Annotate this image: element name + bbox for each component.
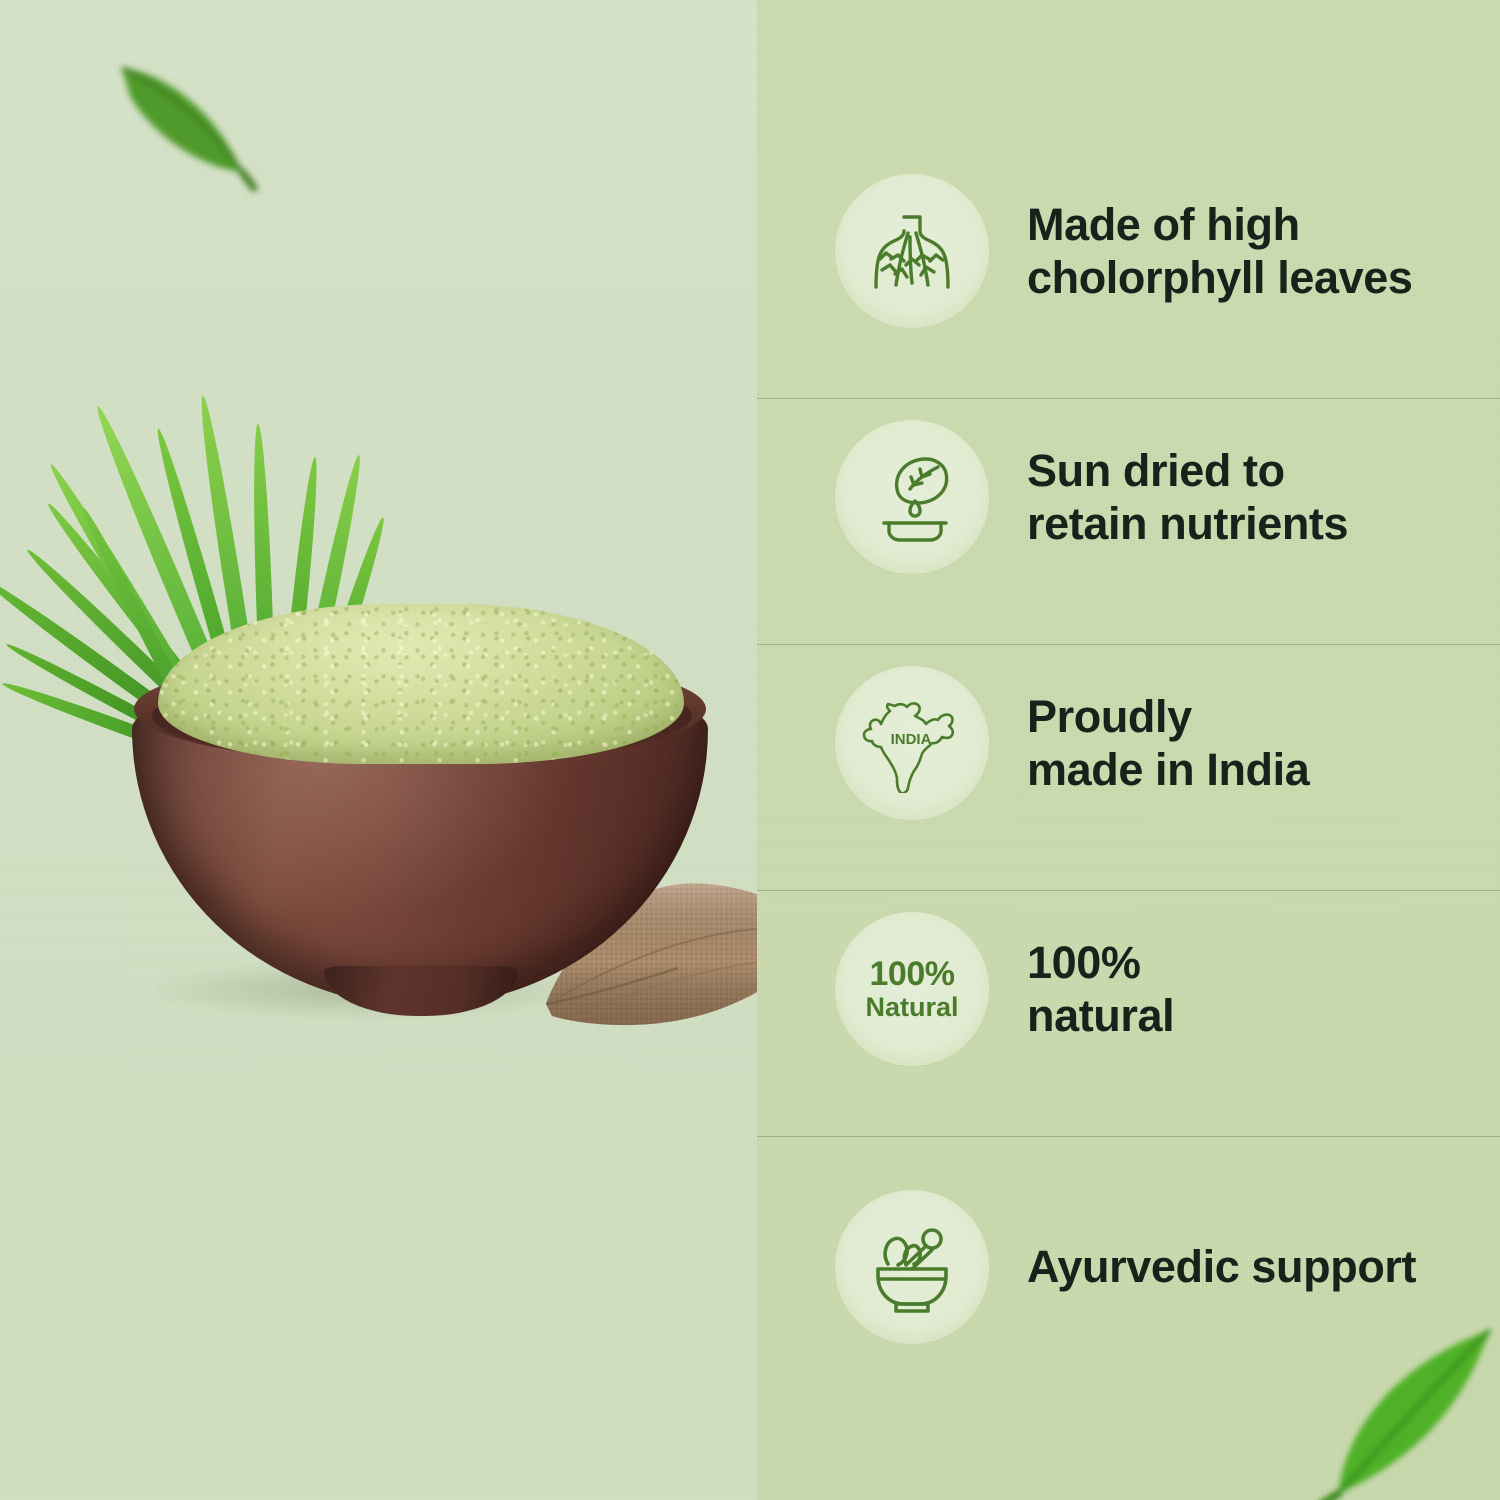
natural-badge-text: 100% Natural xyxy=(865,957,958,1021)
natural-badge-word: Natural xyxy=(865,994,958,1021)
infographic-canvas: Made of high cholorphyll leaves Sun drie… xyxy=(0,0,1500,1500)
feature-list: Made of high cholorphyll leaves Sun drie… xyxy=(757,0,1500,1500)
product-photo xyxy=(0,0,757,1500)
feature-label-made-in-india: Proudly made in India xyxy=(1027,690,1309,796)
feature-row-ayurvedic[interactable]: Ayurvedic support xyxy=(757,1182,1500,1352)
feature-divider-2 xyxy=(757,644,1500,645)
svg-text:INDIA: INDIA xyxy=(891,731,932,748)
powder-grain-texture xyxy=(158,604,684,764)
feature-label-natural: 100% natural xyxy=(1027,936,1174,1042)
feature-label-chlorophyll: Made of high cholorphyll leaves xyxy=(1027,198,1412,304)
plant-root-icon xyxy=(835,174,989,328)
feature-divider-3 xyxy=(757,890,1500,891)
ceramic-bowl xyxy=(132,648,708,1020)
feature-divider-1 xyxy=(757,398,1500,399)
wheatgrass-powder xyxy=(158,604,684,764)
feature-label-sun-dried: Sun dried to retain nutrients xyxy=(1027,444,1348,550)
feature-row-natural[interactable]: 100% Natural 100% natural xyxy=(757,904,1500,1074)
mortar-pestle-icon xyxy=(835,1190,989,1344)
feature-label-ayurvedic: Ayurvedic support xyxy=(1027,1240,1416,1293)
feature-divider-4 xyxy=(757,1136,1500,1137)
bowl-foot xyxy=(324,966,518,1016)
india-map-icon: INDIA xyxy=(835,666,989,820)
feature-row-made-in-india[interactable]: INDIA Proudly made in India xyxy=(757,658,1500,828)
natural-badge-percent: 100% xyxy=(865,957,958,991)
hundred-percent-natural-badge: 100% Natural xyxy=(835,912,989,1066)
feature-row-chlorophyll[interactable]: Made of high cholorphyll leaves xyxy=(757,166,1500,336)
leaf-drip-tray-icon xyxy=(835,420,989,574)
feature-row-sun-dried[interactable]: Sun dried to retain nutrients xyxy=(757,412,1500,582)
